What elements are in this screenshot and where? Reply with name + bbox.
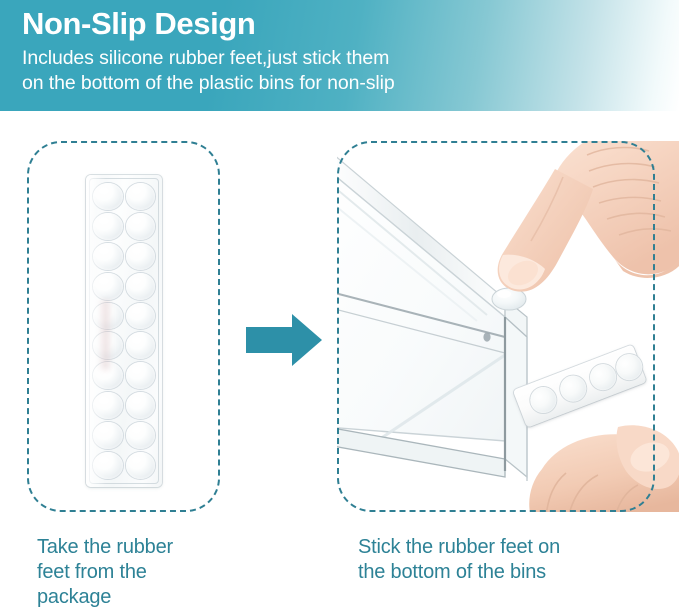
- header-banner: Non-Slip Design Includes silicone rubber…: [0, 0, 679, 111]
- rubber-foot: [126, 362, 156, 389]
- right-caption-line-1: Stick the rubber feet on: [358, 535, 560, 560]
- rubber-foot: [126, 422, 156, 449]
- page-title: Non-Slip Design: [22, 6, 255, 42]
- arrow-right-icon: [246, 314, 322, 366]
- feet-grid: [92, 182, 156, 480]
- right-caption: Stick the rubber feet on the bottom of t…: [358, 535, 560, 585]
- rubber-foot: [93, 243, 123, 270]
- rubber-foot: [93, 273, 123, 300]
- header-subtitle-line-2: on the bottom of the plastic bins for no…: [22, 71, 395, 96]
- rubber-foot: [93, 392, 123, 419]
- rubber-foot: [93, 183, 123, 210]
- rubber-foot: [126, 183, 156, 210]
- rubber-foot: [126, 303, 156, 330]
- rubber-foot: [93, 422, 123, 449]
- left-caption: Take the rubber feet from the package: [37, 535, 173, 610]
- rubber-foot: [93, 332, 123, 359]
- right-photo-panel: [337, 141, 655, 512]
- rubber-feet-package: [86, 175, 162, 487]
- rubber-foot: [126, 243, 156, 270]
- left-caption-line-3: package: [37, 585, 173, 610]
- rubber-foot: [126, 452, 156, 479]
- rubber-foot: [93, 362, 123, 389]
- header-subtitle: Includes silicone rubber feet,just stick…: [22, 46, 395, 96]
- rubber-foot: [126, 273, 156, 300]
- right-caption-line-2: the bottom of the bins: [358, 560, 560, 585]
- left-caption-line-2: feet from the: [37, 560, 173, 585]
- left-caption-line-1: Take the rubber: [37, 535, 173, 560]
- header-subtitle-line-1: Includes silicone rubber feet,just stick…: [22, 46, 395, 71]
- rubber-foot: [93, 213, 123, 240]
- rubber-foot: [126, 332, 156, 359]
- rubber-foot: [126, 213, 156, 240]
- rubber-foot: [126, 392, 156, 419]
- rubber-foot: [93, 452, 123, 479]
- rubber-foot: [93, 303, 123, 330]
